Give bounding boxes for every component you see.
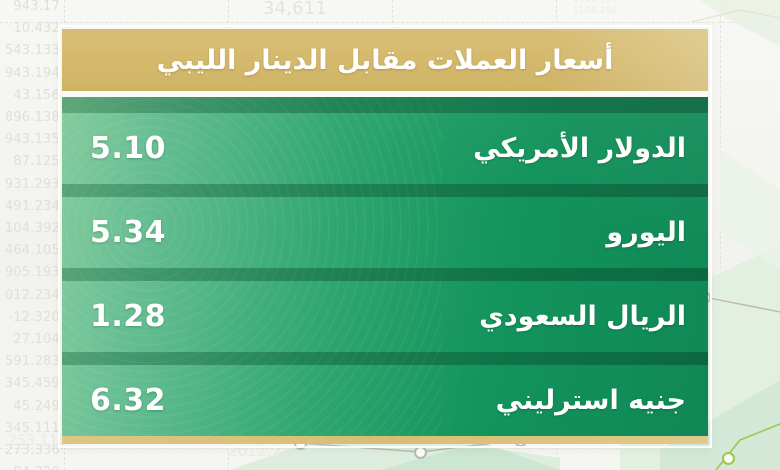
table-row[interactable]: 5.10 الدولار الأمريكي [62, 113, 708, 184]
rate-label: الريال السعودي [479, 301, 686, 332]
table-row[interactable]: 6.32 جنيه استرليني [62, 365, 708, 436]
row-separator [62, 352, 708, 365]
card-header: أسعار العملات مقابل الدينار الليبي [62, 29, 708, 91]
background-gridline-h [0, 448, 780, 449]
background-polygon-topright [700, 0, 780, 70]
chart-node [414, 446, 427, 459]
background-ticker-top-mid: 34,611 [250, 0, 340, 20]
background-ticker-top-right: 3399.190 1104.290 [540, 0, 650, 17]
background-gridline-h [0, 22, 780, 23]
chart-node [722, 452, 735, 465]
screenshot-stage: 943.17 10.432 543.133 943.194 43.156 896… [0, 0, 780, 470]
rate-label: الدولار الأمريكي [473, 133, 686, 164]
rate-value: 5.10 [90, 131, 166, 166]
table-row[interactable]: 1.28 الريال السعودي [62, 281, 708, 352]
rates-list: 5.10 الدولار الأمريكي 5.34 اليورو 1.28 ا… [62, 97, 708, 436]
row-separator [62, 97, 708, 113]
rate-value: 6.32 [90, 383, 166, 418]
rate-label: جنيه استرليني [496, 385, 686, 416]
background-ticker-left: 943.17 10.432 543.133 943.194 43.156 896… [0, 0, 60, 470]
row-separator [62, 184, 708, 197]
rate-value: 1.28 [90, 299, 166, 334]
rate-label: اليورو [606, 217, 686, 248]
card-footer-bar [62, 436, 708, 444]
background-gridline-v [720, 0, 721, 470]
currency-rates-card: أسعار العملات مقابل الدينار الليبي 5.10 … [62, 29, 708, 444]
table-row[interactable]: 5.34 اليورو [62, 197, 708, 268]
row-separator [62, 268, 708, 281]
card-title: أسعار العملات مقابل الدينار الليبي [157, 45, 614, 76]
rate-value: 5.34 [90, 215, 166, 250]
